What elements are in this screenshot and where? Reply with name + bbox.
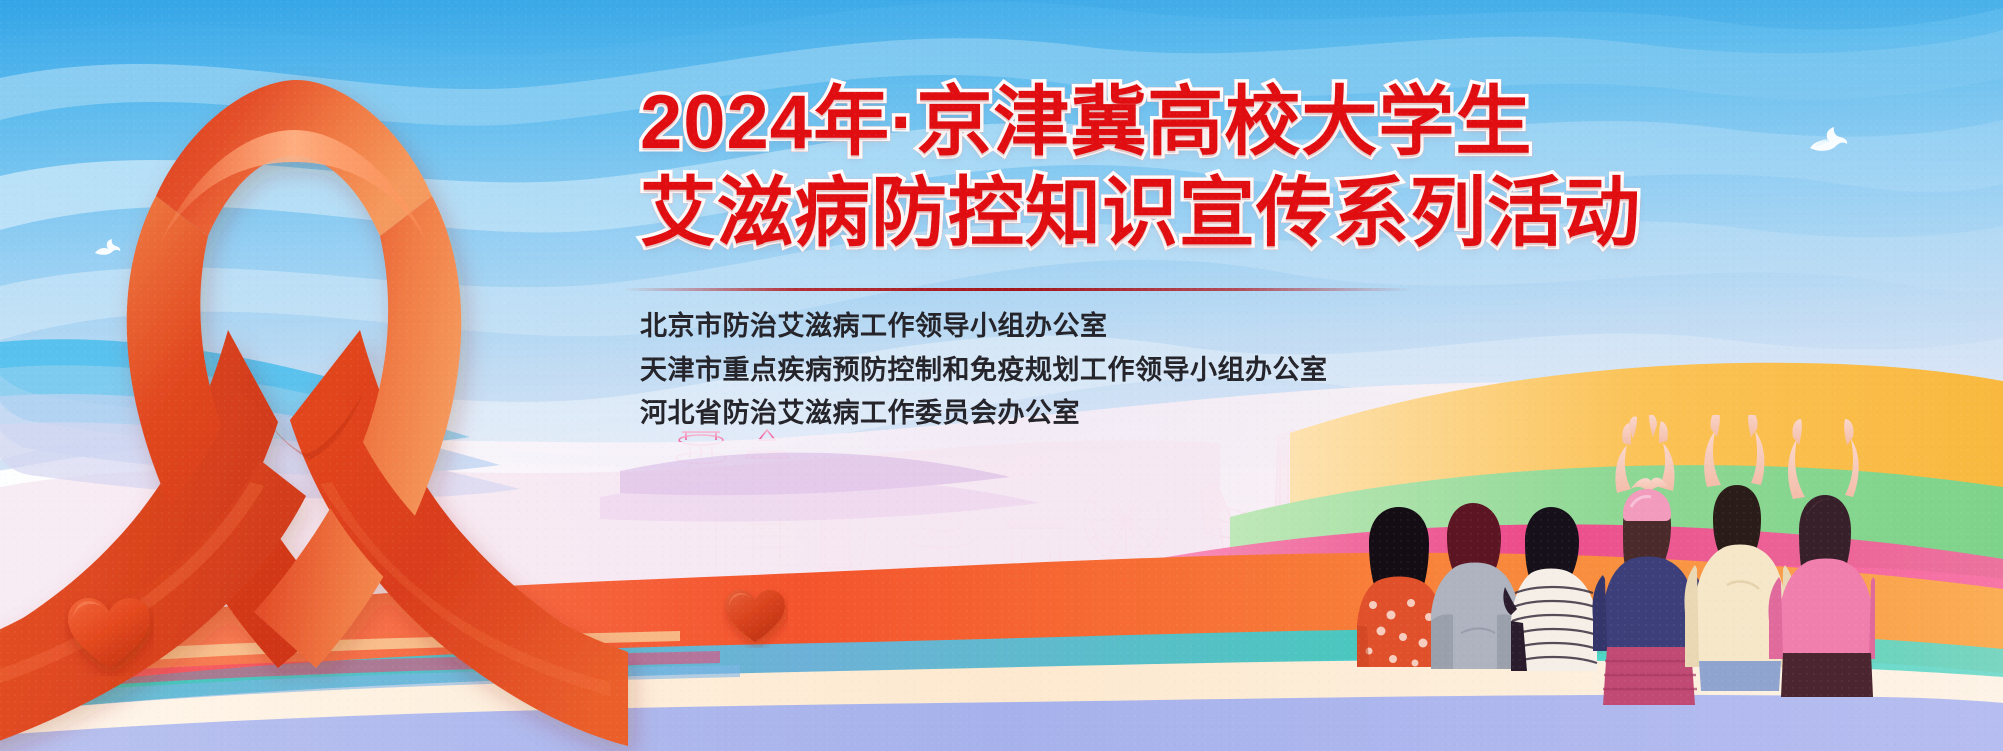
organizer-line-2: 天津市重点疾病预防控制和免疫规划工作领导小组办公室 [640,349,1640,393]
group-of-students-from-behind [1355,415,1875,705]
person-1 [1357,507,1443,667]
person-6 [1768,419,1875,697]
organizer-list: 北京市防治艾滋病工作领导小组办公室 天津市重点疾病预防控制和免疫规划工作领导小组… [640,305,1640,436]
campaign-banner: 2024年·京津冀高校大学生 艾滋病防控知识宣传系列活动 北京市防治艾滋病工作领… [0,0,2003,751]
title-line-1: 2024年·京津冀高校大学生 [640,80,1960,165]
person-2 [1431,503,1519,669]
title-divider [622,288,1412,291]
heart-bottom-left-icon [64,592,154,676]
organizer-line-3: 河北省防治艾滋病工作委员会办公室 [640,392,1640,436]
heart-center-icon [722,586,788,648]
title-line-2: 艾滋病防控知识宣传系列活动 [640,171,1960,256]
organizer-line-1: 北京市防治艾滋病工作领导小组办公室 [640,305,1640,349]
person-3 [1503,507,1597,671]
main-title: 2024年·京津冀高校大学生 艾滋病防控知识宣传系列活动 [640,80,1960,256]
